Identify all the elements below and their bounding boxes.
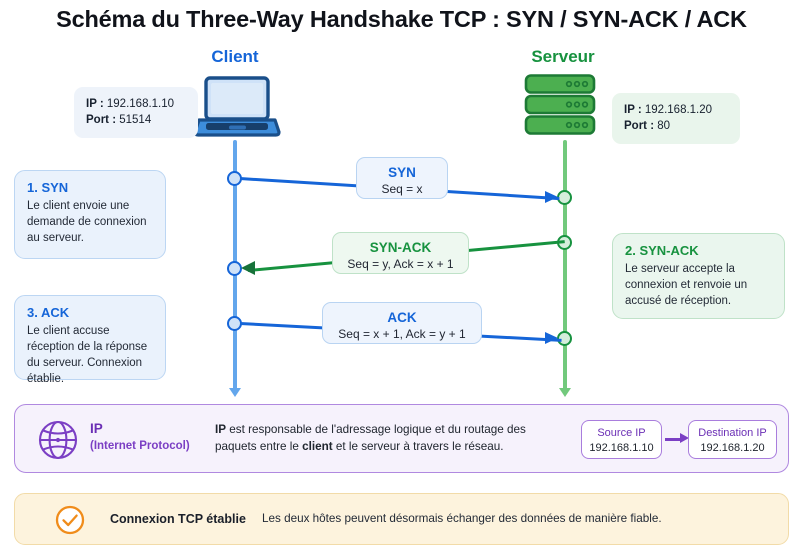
step-syn-body: Le client envoie une demande de connexio… — [27, 198, 153, 246]
client-node-synack — [227, 261, 242, 276]
client-lifeline-arrowhead — [229, 388, 241, 397]
syn-arrowhead — [545, 191, 558, 203]
packet-synack-title: SYN-ACK — [333, 239, 468, 256]
client-label: Client — [170, 47, 300, 67]
client-port-value: 51514 — [119, 114, 151, 126]
source-ip-title: Source IP — [582, 426, 661, 441]
laptop-icon — [193, 76, 281, 138]
ip-protocol-panel: IP (Internet Protocol) IP est responsabl… — [14, 404, 789, 473]
client-port-label: Port : — [86, 114, 116, 126]
client-ip-line: IP : 192.168.1.10 — [86, 96, 186, 112]
synack-arrowhead — [241, 261, 255, 275]
destination-ip-value: 192.168.1.20 — [689, 441, 776, 456]
source-ip-chip: Source IP 192.168.1.10 — [581, 420, 662, 459]
server-port-value: 80 — [657, 120, 670, 132]
packet-ack-title: ACK — [323, 309, 481, 326]
server-ip-value: 192.168.1.20 — [645, 104, 712, 116]
step-box-ack: 3. ACK Le client accuse réception de la … — [14, 295, 166, 380]
connection-established-banner: Connexion TCP établie Les deux hôtes peu… — [14, 493, 789, 545]
server-port-label: Port : — [624, 120, 654, 132]
step-syn-heading: 1. SYN — [27, 180, 153, 195]
ip-desc-term: IP — [215, 423, 226, 436]
server-ip-label: IP : — [624, 104, 642, 116]
ip-desc-client: client — [302, 440, 333, 453]
packet-syn: SYN Seq = x — [356, 157, 448, 199]
step-ack-body: Le client accuse réception de la réponse… — [27, 323, 153, 387]
step-synack-heading: 2. SYN-ACK — [625, 243, 772, 258]
packet-ack: ACK Seq = x + 1, Ack = y + 1 — [322, 302, 482, 344]
banner-strong-text: Connexion TCP établie — [110, 512, 246, 526]
check-circle-icon — [55, 505, 85, 535]
server-lifeline — [563, 140, 567, 392]
packet-synack-detail: Seq = y, Ack = x + 1 — [333, 256, 468, 273]
server-ip-line: IP : 192.168.1.20 — [624, 102, 728, 118]
ip-panel-description: IP est responsable de l'adressage logiqu… — [215, 421, 570, 455]
diagram-canvas: Schéma du Three-Way Handshake TCP : SYN … — [0, 0, 803, 560]
packet-synack: SYN-ACK Seq = y, Ack = x + 1 — [332, 232, 469, 274]
server-label: Serveur — [498, 47, 628, 67]
globe-icon — [37, 419, 79, 461]
ack-arrowhead — [545, 332, 558, 344]
step-synack-body: Le serveur accepte la connexion et renvo… — [625, 261, 772, 309]
server-stack-icon — [524, 74, 600, 138]
packet-ack-detail: Seq = x + 1, Ack = y + 1 — [323, 326, 481, 343]
client-ip-label: IP : — [86, 98, 104, 110]
banner-text: Les deux hôtes peuvent désormais échange… — [262, 512, 662, 525]
destination-ip-title: Destination IP — [689, 426, 776, 441]
ip-panel-name: IP — [90, 421, 103, 436]
server-lifeline-arrowhead — [559, 388, 571, 397]
source-ip-value: 192.168.1.10 — [582, 441, 661, 456]
destination-ip-chip: Destination IP 192.168.1.20 — [688, 420, 777, 459]
packet-syn-title: SYN — [357, 164, 447, 181]
step-box-syn: 1. SYN Le client envoie une demande de c… — [14, 170, 166, 259]
packet-syn-detail: Seq = x — [357, 181, 447, 198]
server-port-line: Port : 80 — [624, 118, 728, 134]
step-ack-heading: 3. ACK — [27, 305, 153, 320]
ip-desc-end: et le serveur à travers le réseau. — [333, 440, 504, 453]
client-info-box: IP : 192.168.1.10 Port : 51514 — [74, 87, 198, 138]
client-port-line: Port : 51514 — [86, 112, 186, 128]
server-info-box: IP : 192.168.1.20 Port : 80 — [612, 93, 740, 144]
step-box-synack: 2. SYN-ACK Le serveur accepte la connexi… — [612, 233, 785, 319]
client-ip-value: 192.168.1.10 — [107, 98, 174, 110]
ip-panel-subtitle: (Internet Protocol) — [90, 440, 190, 452]
page-title: Schéma du Three-Way Handshake TCP : SYN … — [0, 6, 803, 33]
